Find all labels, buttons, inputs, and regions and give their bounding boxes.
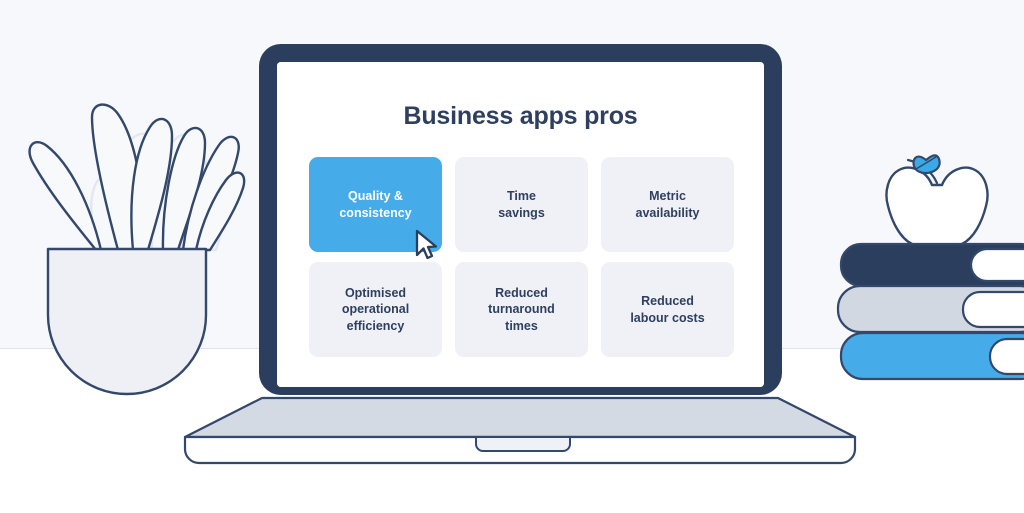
laptop-base-illustration [0, 0, 1024, 513]
laptop-deck [185, 398, 855, 437]
illustration-scene: Business apps pros Quality & consistency… [0, 0, 1024, 513]
laptop-notch [476, 437, 570, 451]
